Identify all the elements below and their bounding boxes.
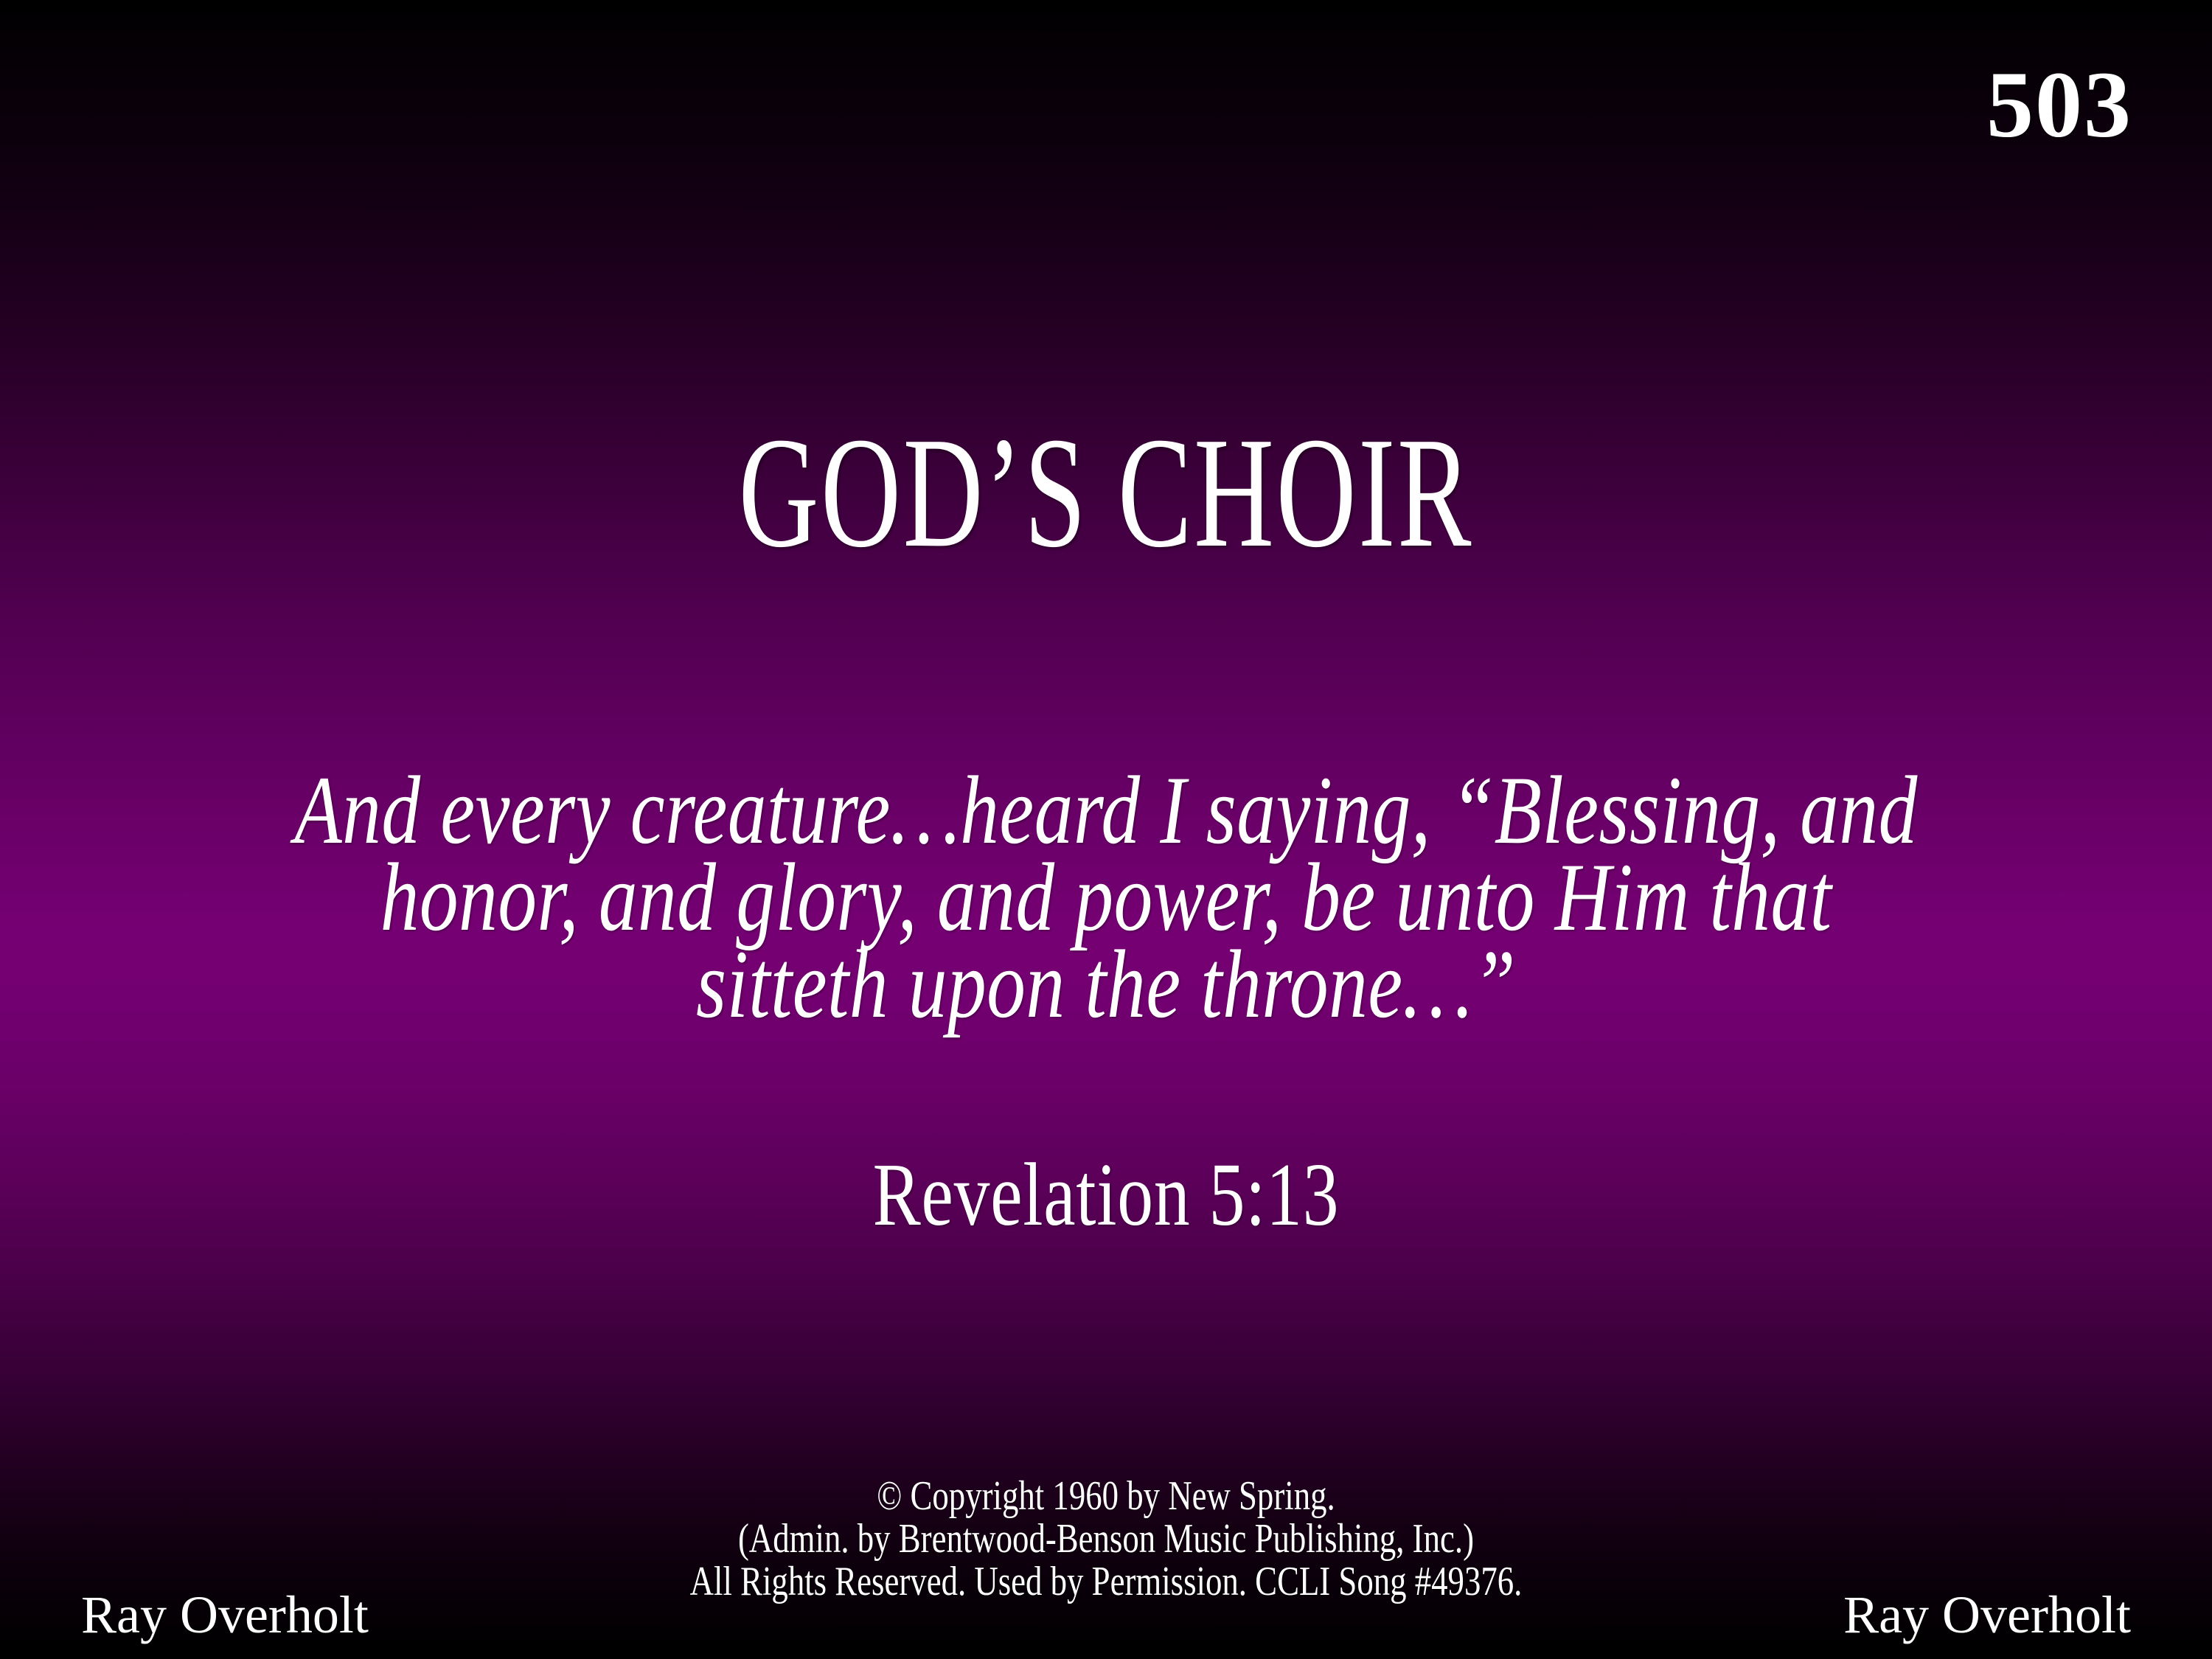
author-credit-left: Ray Overholt (81, 1588, 369, 1641)
scripture-block: And every creature…heard I saying, “Bles… (0, 767, 2212, 1028)
copyright-block: © Copyright 1960 by New Spring. (Admin. … (0, 1475, 2212, 1603)
hymn-number: 503 (1986, 58, 2132, 152)
copyright-line: All Rights Reserved. Used by Permission.… (221, 1560, 1991, 1603)
copyright-line: © Copyright 1960 by New Spring. (221, 1475, 1991, 1517)
page-title: GOD’S CHOIR (332, 413, 1880, 571)
scripture-reference: Revelation 5:13 (221, 1150, 1991, 1240)
scripture-line: sitteth upon the throne…” (221, 941, 1991, 1028)
author-credit-right: Ray Overholt (1843, 1588, 2131, 1641)
scripture-line: honor, and glory, and power, be unto Him… (221, 854, 1991, 941)
scripture-line: And every creature…heard I saying, “Bles… (221, 767, 1991, 854)
hymn-slide: 503 GOD’S CHOIR And every creature…heard… (0, 0, 2212, 1659)
copyright-line: (Admin. by Brentwood-Benson Music Publis… (221, 1517, 1991, 1560)
